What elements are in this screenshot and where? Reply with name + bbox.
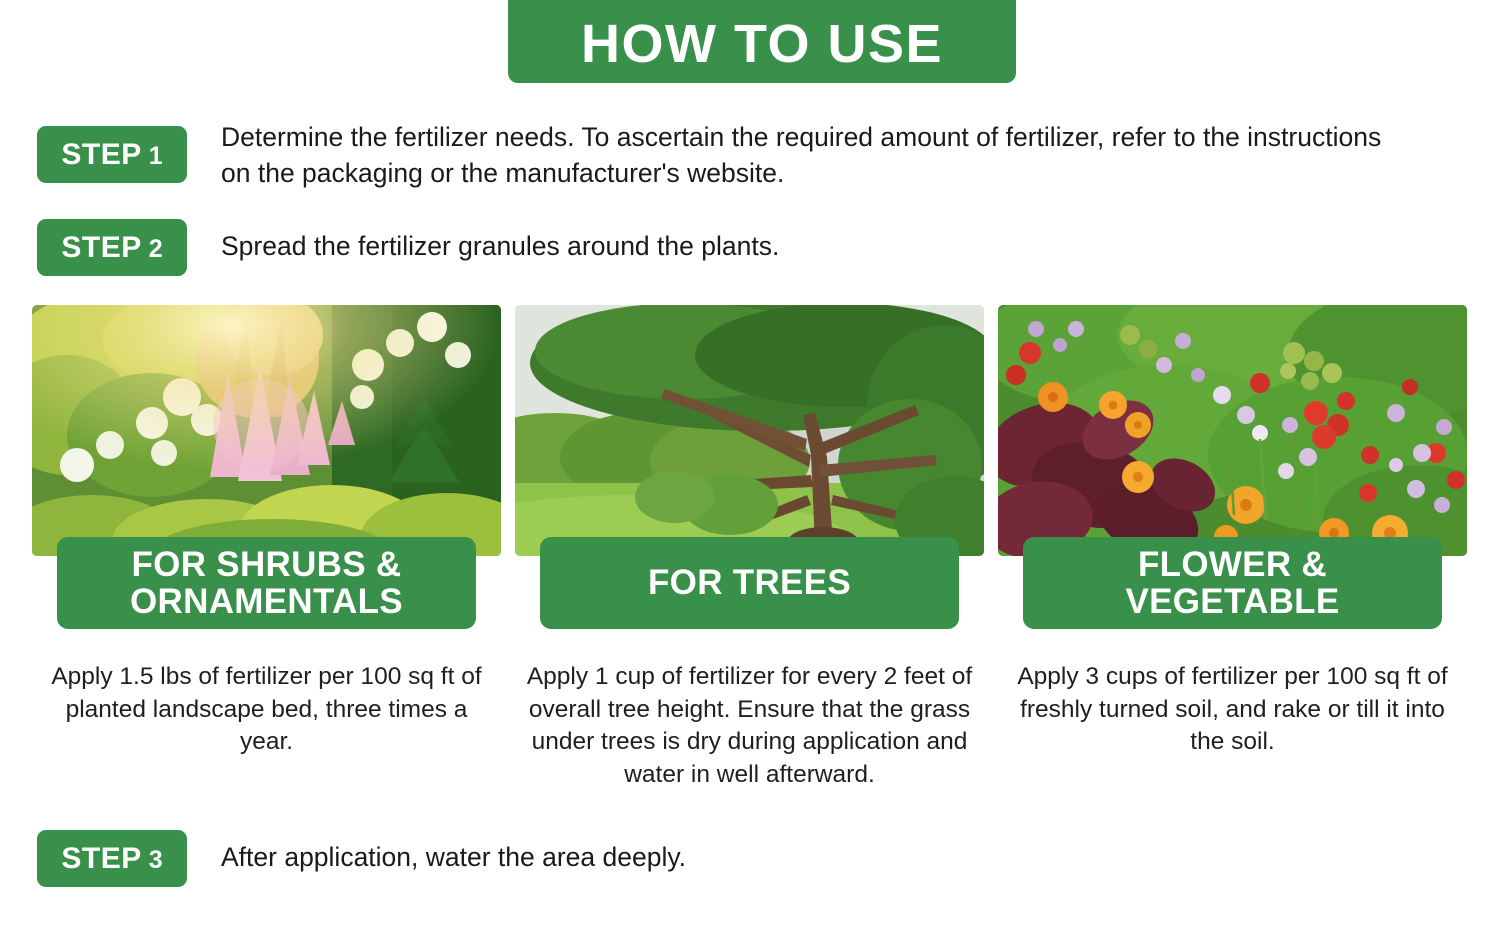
step-2-text: Spread the fertilizer granules around th… <box>221 229 779 265</box>
card-trees: FOR TREES Apply 1 cup of fertilizer for … <box>515 305 984 791</box>
card-gallery: FOR SHRUBS & ORNAMENTALS Apply 1.5 lbs o… <box>32 305 1469 791</box>
card-label-text: FLOWER & VEGETABLE <box>1037 546 1428 620</box>
step-badge-2: STEP 2 <box>37 219 187 276</box>
step-badge-number: 2 <box>149 237 163 262</box>
card-caption-flower-vegetable: Apply 3 cups of fertilizer per 100 sq ft… <box>998 661 1467 759</box>
step-badge-number: 1 <box>149 144 163 169</box>
card-shrubs-ornamentals: FOR SHRUBS & ORNAMENTALS Apply 1.5 lbs o… <box>32 305 501 791</box>
step-3-text: After application, water the area deeply… <box>221 840 686 876</box>
step-row-3: STEP 3 After application, water the area… <box>37 830 686 887</box>
step-badge-number: 3 <box>149 848 163 873</box>
card-label-shrubs-ornamentals: FOR SHRUBS & ORNAMENTALS <box>57 537 476 629</box>
header-banner: HOW TO USE <box>508 0 1016 83</box>
page-title: HOW TO USE <box>581 17 943 71</box>
step-badge-3: STEP 3 <box>37 830 187 887</box>
card-label-text: FOR SHRUBS & ORNAMENTALS <box>71 546 462 620</box>
step-row-1: STEP 1 Determine the fertilizer needs. T… <box>37 126 1406 192</box>
step-badge-word: STEP <box>61 844 141 874</box>
card-label-text: FOR TREES <box>648 564 851 601</box>
step-row-2: STEP 2 Spread the fertilizer granules ar… <box>37 219 779 276</box>
step-1-text: Determine the fertilizer needs. To ascer… <box>221 120 1406 192</box>
shrubs-ornamentals-photo <box>32 305 501 556</box>
card-label-flower-vegetable: FLOWER & VEGETABLE <box>1023 537 1442 629</box>
step-badge-word: STEP <box>61 233 141 263</box>
card-caption-shrubs-ornamentals: Apply 1.5 lbs of fertilizer per 100 sq f… <box>32 661 501 759</box>
card-label-trees: FOR TREES <box>540 537 959 629</box>
trees-photo <box>515 305 984 556</box>
card-caption-trees: Apply 1 cup of fertilizer for every 2 fe… <box>515 661 984 791</box>
step-badge-1: STEP 1 <box>37 126 187 183</box>
step-badge-word: STEP <box>61 140 141 170</box>
flower-vegetable-photo <box>998 305 1467 556</box>
card-flower-vegetable: FLOWER & VEGETABLE Apply 3 cups of ferti… <box>998 305 1467 791</box>
